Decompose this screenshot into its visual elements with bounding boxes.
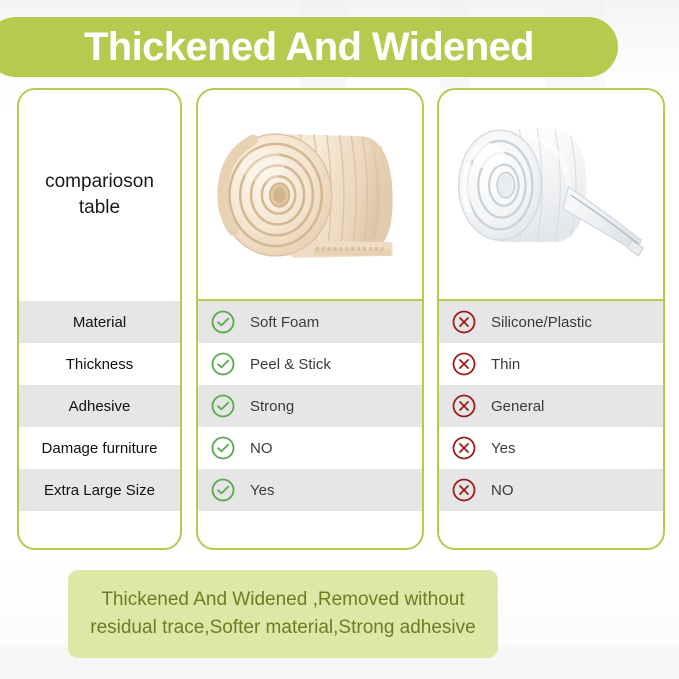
table-row: Peel & Stick xyxy=(198,343,422,385)
check-circle-icon xyxy=(210,351,236,377)
product-comparison-infographic: Thickened And Widened comparioson table … xyxy=(0,0,679,679)
cell-value: Yes xyxy=(491,440,515,457)
table-row: Damage furniture xyxy=(19,427,180,469)
check-circle-icon xyxy=(210,477,236,503)
cross-circle-icon xyxy=(451,393,477,419)
row-label: Adhesive xyxy=(69,398,131,415)
table-row: Silicone/Plastic xyxy=(439,301,663,343)
table-row: Soft Foam xyxy=(198,301,422,343)
row-label: Material xyxy=(73,314,126,331)
cell-value: Thin xyxy=(491,356,520,373)
check-circle-icon xyxy=(210,435,236,461)
cell-value: Soft Foam xyxy=(250,314,319,331)
cross-circle-icon xyxy=(451,351,477,377)
row-label: Damage furniture xyxy=(42,440,158,457)
foam-image-area xyxy=(198,90,422,301)
footer-caption-text: Thickened And Widened ,Removed without r… xyxy=(82,586,484,641)
table-row: Adhesive xyxy=(19,385,180,427)
check-circle-icon xyxy=(210,393,236,419)
comparison-label-card: comparioson table Material Thickness Adh… xyxy=(17,88,182,550)
cell-value: Peel & Stick xyxy=(250,356,331,373)
foam-value-rows: Soft Foam Peel & Stick Strong xyxy=(198,301,422,548)
cell-value: Silicone/Plastic xyxy=(491,314,592,331)
table-row: NO xyxy=(439,469,663,511)
label-card-header: comparioson table xyxy=(19,90,180,299)
table-row: Strong xyxy=(198,385,422,427)
table-row: Thin xyxy=(439,343,663,385)
table-row: Material xyxy=(19,301,180,343)
table-row: Yes xyxy=(198,469,422,511)
table-row: General xyxy=(439,385,663,427)
cross-circle-icon xyxy=(451,477,477,503)
comparison-table-title: comparioson table xyxy=(19,169,180,220)
header-banner: Thickened And Widened xyxy=(0,17,618,77)
table-row: NO xyxy=(198,427,422,469)
silicone-image-area xyxy=(439,90,663,301)
check-circle-icon xyxy=(210,309,236,335)
cell-value: NO xyxy=(491,482,514,499)
row-label: Extra Large Size xyxy=(44,482,155,499)
row-label: Thickness xyxy=(66,356,134,373)
table-row: Yes xyxy=(439,427,663,469)
footer-caption-box: Thickened And Widened ,Removed without r… xyxy=(68,570,498,658)
cell-value: General xyxy=(491,398,544,415)
cross-circle-icon xyxy=(451,309,477,335)
foam-product-card: Soft Foam Peel & Stick Strong xyxy=(196,88,424,550)
cell-value: Strong xyxy=(250,398,294,415)
label-rows: Material Thickness Adhesive Damage furni… xyxy=(19,301,180,548)
foam-edge-guard-roll-image xyxy=(198,90,422,299)
silicone-product-card: Silicone/Plastic Thin General xyxy=(437,88,665,550)
cell-value: NO xyxy=(250,440,273,457)
silicone-value-rows: Silicone/Plastic Thin General xyxy=(439,301,663,548)
page-title: Thickened And Widened xyxy=(84,27,534,67)
table-row: Extra Large Size xyxy=(19,469,180,511)
cross-circle-icon xyxy=(451,435,477,461)
cell-value: Yes xyxy=(250,482,274,499)
clear-silicone-strip-roll-image xyxy=(439,90,663,299)
table-row: Thickness xyxy=(19,343,180,385)
